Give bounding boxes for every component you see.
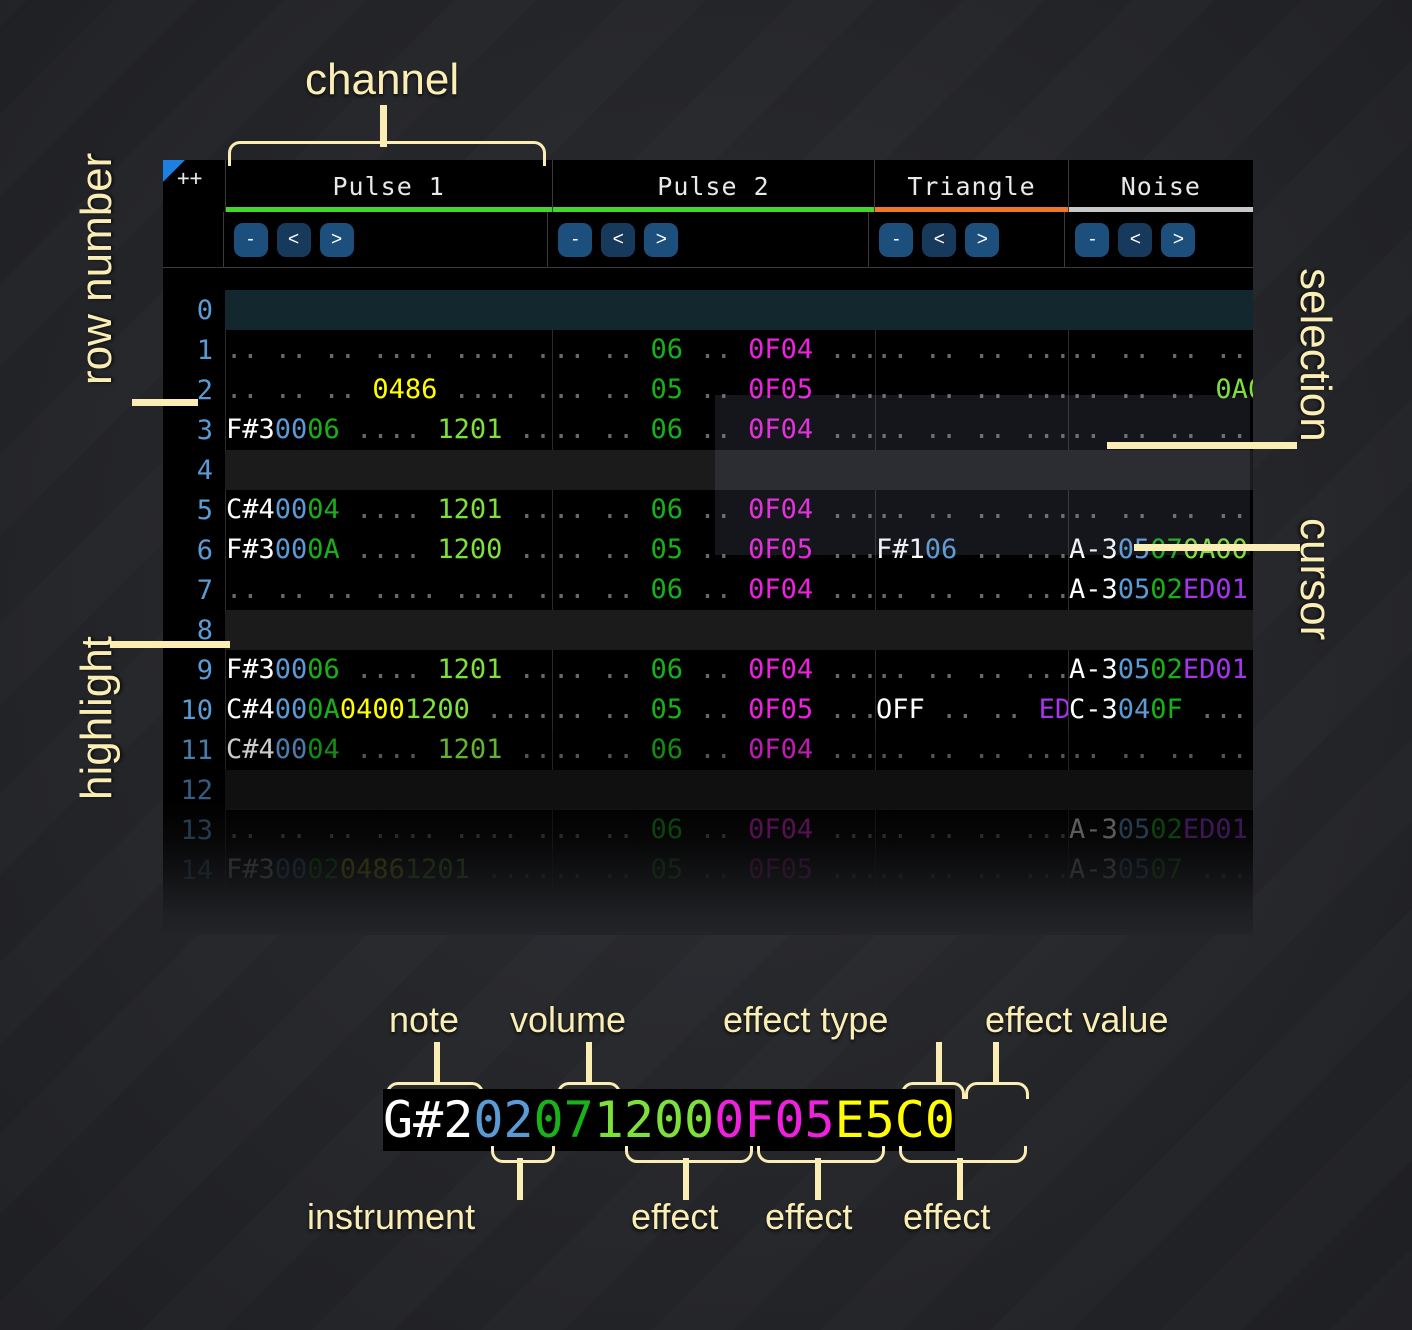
pattern-cell[interactable]: A-30502ED01: [1068, 890, 1253, 930]
legend-token-e1: 1200: [594, 1095, 714, 1145]
pattern-cell[interactable]: .. .. .. ....: [875, 730, 1068, 770]
mute-button[interactable]: -: [558, 223, 592, 257]
legend-token-note: G#2: [383, 1095, 473, 1145]
mute-button[interactable]: -: [234, 223, 268, 257]
channel-controls-pulse-2: - < >: [547, 212, 868, 267]
annotation-cursor-leader: [1134, 544, 1300, 551]
pattern-token: 0400: [340, 694, 405, 725]
pattern-cell[interactable]: F#3000A .... 1200 ....: [225, 530, 552, 570]
pattern-token: .. ..: [553, 854, 651, 885]
pattern-row[interactable]: 7.. .. .. .... .... ...... .. 06 .. 0F04…: [163, 570, 1253, 610]
pattern-row[interactable]: 6F#3000A .... 1200 ...... .. 05 .. 0F05 …: [163, 530, 1253, 570]
row-number: 7: [163, 575, 225, 606]
pattern-token: 0F04: [748, 654, 813, 685]
pattern-token: 04: [307, 494, 340, 525]
pattern-token: ....: [813, 374, 875, 405]
pattern-cell[interactable]: A-30507 ....: [1068, 850, 1253, 890]
pattern-token: A-3: [1069, 574, 1118, 605]
annotation-row-number: row number: [72, 153, 122, 385]
beat-row-highlight: [225, 450, 1253, 490]
pattern-token: 0F05: [748, 854, 813, 885]
channel-name: Pulse 2: [657, 172, 769, 201]
pattern-token: ....: [470, 854, 551, 885]
annotation-channel-bracket: [228, 141, 546, 166]
channel-color-bar: [553, 207, 875, 212]
pattern-token: .. .. ..: [1069, 374, 1215, 405]
row-number: 3: [163, 415, 225, 446]
pattern-token: .. .. .. ....: [876, 414, 1068, 445]
pattern-token: 00: [275, 854, 308, 885]
pattern-row[interactable]: 4C#4000F04001200 ....G#2020712010F05 ...…: [163, 450, 1253, 490]
pattern-token: .. .. .. ....: [876, 814, 1068, 845]
pattern-token: ..: [683, 574, 748, 605]
pattern-token: ....: [502, 494, 552, 525]
pattern-cell[interactable]: F#30006 .... 1201 ....: [225, 410, 552, 450]
pattern-token: .. .. .. ....: [1069, 334, 1253, 365]
pattern-token: 1201: [437, 654, 502, 685]
pattern-token: ....: [813, 814, 875, 845]
pattern-token: ED01: [1183, 654, 1248, 685]
pattern-cell[interactable]: A-30502ED01: [1068, 650, 1253, 690]
pattern-grid[interactable]: 0F#3000F04001200E5C0G#2020712000F05E5C0F…: [163, 290, 1253, 930]
row-number: 4: [163, 455, 225, 486]
pattern-cell[interactable]: .. .. .. ....: [1068, 490, 1253, 530]
prev-button[interactable]: <: [601, 223, 635, 257]
pattern-token: .. ..: [553, 534, 651, 565]
pattern-cell[interactable]: .. .. .. ....: [875, 570, 1068, 610]
pattern-cell[interactable]: .. .. 05 .. 0F05 ....: [552, 370, 875, 410]
pattern-row[interactable]: 3F#30006 .... 1201 ...... .. 06 .. 0F04 …: [163, 410, 1253, 450]
next-button[interactable]: >: [644, 223, 678, 257]
pattern-token: ..: [683, 334, 748, 365]
pattern-token: ....: [813, 494, 875, 525]
pattern-token: F#1: [876, 534, 925, 565]
pattern-token: ....: [340, 654, 438, 685]
pattern-token: 04: [307, 734, 340, 765]
pattern-token: .. ..: [553, 894, 651, 925]
pattern-token: ....: [502, 414, 552, 445]
pattern-token: ....: [813, 694, 875, 725]
pattern-token: ....: [1183, 694, 1253, 725]
pattern-token: .. .. .. ....: [1069, 734, 1253, 765]
legend-code-strip[interactable]: G#2020712000F05E5C0: [383, 1089, 955, 1151]
pattern-token: .. .. .. ....: [876, 374, 1068, 405]
pattern-token: .. .. .. ....: [876, 494, 1068, 525]
pattern-token: 0F04: [748, 494, 813, 525]
pattern-token: ....: [813, 534, 875, 565]
pattern-cell[interactable]: .. .. .. .... .... ....: [225, 330, 552, 370]
channel-controls-noise: - < >: [1064, 212, 1253, 267]
pattern-token: 06: [307, 414, 340, 445]
pattern-cell[interactable]: .. .. .. .... .... ....: [225, 570, 552, 610]
pattern-token: 0F04: [748, 414, 813, 445]
pattern-token: ....: [1183, 854, 1253, 885]
pattern-cell[interactable]: .. .. 06 .. 0F04 ....: [552, 650, 875, 690]
next-button[interactable]: >: [320, 223, 354, 257]
pattern-token: 0F04: [748, 814, 813, 845]
pattern-token: 0486: [372, 374, 437, 405]
pattern-token: 06: [651, 894, 684, 925]
pattern-token: .. .. .. ....: [876, 334, 1068, 365]
pattern-token: ....: [813, 654, 875, 685]
pattern-token: 0C: [307, 894, 340, 925]
pattern-cell[interactable]: .. .. .. ....: [875, 330, 1068, 370]
pattern-cell[interactable]: .. .. .. 0486 .... ....: [225, 370, 552, 410]
pattern-token: ..: [683, 734, 748, 765]
pattern-token: .. .. .. ....: [876, 734, 1068, 765]
beat-row-highlight: [225, 610, 1253, 650]
pattern-token: 06: [651, 814, 684, 845]
pattern-cell[interactable]: .. .. 06 .. 0F04 ....: [552, 730, 875, 770]
pattern-token: .. ..: [553, 574, 651, 605]
pattern-row[interactable]: 10C#4000A04001200 ...... .. 05 .. 0F05 .…: [163, 690, 1253, 730]
pattern-token: 0A: [307, 534, 340, 565]
channel-header-noise[interactable]: Noise: [1068, 160, 1253, 212]
pattern-token: .. ..: [553, 654, 651, 685]
pattern-token: 07: [1150, 854, 1183, 885]
pattern-token: .. .. .. .... .... ....: [226, 814, 552, 845]
channel-header-row: ++ Pulse 1 Pulse 2 Triangle Noise: [163, 160, 1253, 212]
pattern-token: ..: [683, 814, 748, 845]
pattern-cell[interactable]: .. .. .. ....: [875, 850, 1068, 890]
pattern-cell[interactable]: C#4000A04001200 ....: [225, 690, 552, 730]
annotation-cursor: cursor: [1290, 518, 1340, 640]
pattern-token: F#3: [226, 414, 275, 445]
pattern-token: F#3: [226, 534, 275, 565]
legend-token-e2: 0F05: [714, 1095, 834, 1145]
pattern-token: 0A01: [1215, 374, 1253, 405]
pattern-token: ..: [683, 494, 748, 525]
pattern-token: 0F05: [748, 374, 813, 405]
annotation-selection-leader: [1107, 442, 1297, 449]
pattern-token: 0486: [340, 854, 405, 885]
pattern-token: 00: [275, 414, 308, 445]
pattern-token: 06: [925, 534, 958, 565]
pattern-cell[interactable]: .. .. 06 .. 0F04 ....: [552, 890, 875, 930]
pattern-token: ....: [340, 734, 438, 765]
beat-row-highlight: [225, 770, 1253, 810]
pattern-token: 0F04: [748, 574, 813, 605]
pattern-cell[interactable]: F#30006 .... 1201 ....: [225, 650, 552, 690]
pattern-cell[interactable]: .. .. .. ....: [875, 650, 1068, 690]
pattern-token: .. ....: [957, 534, 1068, 565]
pattern-token: 05: [651, 854, 684, 885]
pattern-cell[interactable]: .. .. 05 .. 0F05 ....: [552, 850, 875, 890]
pattern-token: 00: [275, 894, 308, 925]
pattern-token: .. ..: [553, 814, 651, 845]
pattern-token: .. ..: [553, 374, 651, 405]
pattern-token: ....: [813, 894, 875, 925]
pattern-token: 02: [307, 854, 340, 885]
pattern-cell[interactable]: OFF .. .. ED02: [875, 690, 1068, 730]
row-number: 14: [163, 855, 225, 886]
pattern-token: 1200: [405, 894, 470, 925]
pattern-token: ....: [813, 734, 875, 765]
annotation-highlight-leader: [110, 641, 230, 648]
pattern-cell[interactable]: C#40004 .... 1201 ....: [225, 730, 552, 770]
pattern-cell[interactable]: C#40004 .... 1201 ....: [225, 490, 552, 530]
pattern-token: 06: [651, 494, 684, 525]
pattern-token: 0F04: [748, 334, 813, 365]
channel-header-triangle[interactable]: Triangle: [874, 160, 1067, 212]
pattern-cell[interactable]: .. .. 06 .. 0F04 ....: [552, 570, 875, 610]
pattern-token: 00: [275, 734, 308, 765]
pattern-token: .. .. .. ....: [876, 854, 1068, 885]
pattern-token: A-3: [1069, 814, 1118, 845]
pattern-token: 05: [651, 374, 684, 405]
legend-token-vol: 07: [534, 1095, 594, 1145]
pattern-token: .. .. .. .... .... ....: [226, 574, 552, 605]
pattern-token: .. .. .. .... .... ....: [226, 334, 552, 365]
pattern-row[interactable]: 14F#3000204861201 ...... .. 05 .. 0F05 .…: [163, 850, 1253, 890]
grid-top-spacer: [163, 268, 1253, 290]
prev-button[interactable]: <: [1118, 223, 1152, 257]
pattern-cell[interactable]: .. .. .. ....: [875, 810, 1068, 850]
pattern-cell[interactable]: C-4000CED031200 ....: [225, 890, 552, 930]
pattern-row[interactable]: 5C#40004 .... 1201 ...... .. 06 .. 0F04 …: [163, 490, 1253, 530]
pattern-token: 05: [651, 694, 684, 725]
pattern-token: 02: [1150, 654, 1183, 685]
pattern-row[interactable]: 13.. .. .. .... .... ...... .. 06 .. 0F0…: [163, 810, 1253, 850]
header-corner[interactable]: ++: [163, 160, 225, 212]
pattern-token: .. .. .. ....: [1069, 414, 1253, 445]
button-row-gutter: [163, 212, 223, 267]
row-number: 6: [163, 535, 225, 566]
mute-button[interactable]: -: [879, 223, 913, 257]
pattern-cell[interactable]: .. .. .. 0A01: [1068, 370, 1253, 410]
pattern-token: 05: [1118, 654, 1151, 685]
pattern-cell[interactable]: .. .. 06 .. 0F04 ....: [552, 410, 875, 450]
row-number: 12: [163, 775, 225, 806]
pattern-token: ....: [502, 734, 552, 765]
prev-button[interactable]: <: [922, 223, 956, 257]
row-number: 10: [163, 695, 225, 726]
pattern-token: 0F04: [748, 734, 813, 765]
pattern-token: 1200: [437, 534, 502, 565]
row-number: 1: [163, 335, 225, 366]
pattern-token: 0A: [307, 694, 340, 725]
pattern-token: ....: [470, 894, 551, 925]
pattern-token: 06: [651, 734, 684, 765]
pattern-row[interactable]: 12F#30006 .... 1200 ....G#2020712010F05 …: [163, 770, 1253, 810]
channel-name: Pulse 1: [332, 172, 444, 201]
pattern-token: 05: [1118, 574, 1151, 605]
pattern-token: ED01: [1183, 574, 1248, 605]
pattern-token: ..: [683, 414, 748, 445]
row-number: 0: [163, 295, 225, 326]
pattern-token: ED01: [1183, 814, 1248, 845]
pattern-token: F#3: [226, 654, 275, 685]
pattern-token: 0F04: [748, 894, 813, 925]
pattern-token: 06: [651, 334, 684, 365]
annotation-row-number-leader: [132, 399, 198, 406]
annotation-channel: channel: [305, 55, 459, 105]
pattern-token: OFF: [876, 894, 925, 925]
pattern-cell[interactable]: .. .. .. ....: [875, 370, 1068, 410]
pattern-cell[interactable]: .. .. 06 .. 0F04 ....: [552, 810, 875, 850]
pattern-token: 00: [275, 654, 308, 685]
pattern-token: ..: [683, 654, 748, 685]
pattern-token: .. ..: [925, 694, 1039, 725]
pattern-token: ED02: [1039, 694, 1068, 725]
pattern-editor[interactable]: ++ Pulse 1 Pulse 2 Triangle Noise - < > …: [163, 160, 1253, 935]
pattern-token: .. ..: [553, 734, 651, 765]
pattern-token: 05: [1118, 854, 1151, 885]
row-number: 9: [163, 655, 225, 686]
pattern-cell[interactable]: .. .. 06 .. 0F04 ....: [552, 330, 875, 370]
pattern-token: 0F05: [748, 694, 813, 725]
pattern-token: .. ..: [925, 894, 1039, 925]
pattern-token: 05: [1118, 894, 1151, 925]
pattern-token: 05: [651, 534, 684, 565]
pattern-cell[interactable]: .. .. .. ....: [1068, 730, 1253, 770]
pattern-token: 0F05: [748, 534, 813, 565]
pattern-token: ..: [683, 694, 748, 725]
pattern-token: 06: [307, 654, 340, 685]
pattern-token: 04: [1118, 694, 1151, 725]
pattern-token: F#3: [226, 854, 275, 885]
pattern-token: ..: [683, 374, 748, 405]
pattern-token: 02: [1150, 814, 1183, 845]
pattern-token: .. ..: [553, 334, 651, 365]
pattern-token: ..: [683, 854, 748, 885]
pattern-cell[interactable]: F#3000204861201 ....: [225, 850, 552, 890]
pattern-token: ....: [813, 574, 875, 605]
pattern-token: A-3: [1069, 894, 1118, 925]
row-number: 15: [163, 895, 225, 926]
pattern-token: 06: [651, 654, 684, 685]
channel-color-bar: [226, 207, 552, 212]
pattern-token: ....: [340, 414, 438, 445]
pattern-token: 1201: [437, 414, 502, 445]
pattern-token: 1201: [437, 494, 502, 525]
pattern-row[interactable]: 9F#30006 .... 1201 ...... .. 06 .. 0F04 …: [163, 650, 1253, 690]
pattern-token: 0F: [1150, 694, 1183, 725]
pattern-token: ....: [502, 534, 552, 565]
pattern-token: ....: [813, 334, 875, 365]
pattern-token: 06: [651, 414, 684, 445]
pattern-token: ED01: [1183, 894, 1248, 925]
pattern-cell[interactable]: C-3040F ....: [1068, 690, 1253, 730]
pattern-token: C-4: [226, 894, 275, 925]
pattern-cell[interactable]: .. .. 05 .. 0F05 ....: [552, 690, 875, 730]
pattern-token: C#4: [226, 734, 275, 765]
pattern-token: ....: [470, 694, 551, 725]
pattern-token: ....: [813, 414, 875, 445]
annotation-highlight: highlight: [72, 636, 122, 800]
row-number: 11: [163, 735, 225, 766]
pattern-token: 00: [275, 534, 308, 565]
channel-color-bar: [1069, 207, 1253, 212]
pattern-row[interactable]: 11C#40004 .... 1201 ...... .. 06 .. 0F04…: [163, 730, 1253, 770]
pattern-token: .. .. ..: [226, 374, 372, 405]
pattern-token: 02: [1150, 574, 1183, 605]
pattern-cell[interactable]: .. .. 05 .. 0F05 ....: [552, 530, 875, 570]
legend-token-inst: 02: [473, 1095, 533, 1145]
pattern-token: ....: [340, 534, 438, 565]
pattern-token: 02: [1150, 894, 1183, 925]
channel-header-pulse-1[interactable]: Pulse 1: [225, 160, 552, 212]
channel-name: Noise: [1121, 172, 1201, 201]
pattern-cell[interactable]: A-30502ED01: [1068, 810, 1253, 850]
pattern-token: 00: [275, 494, 308, 525]
pattern-token: .. ..: [553, 494, 651, 525]
pattern-token: 1201: [437, 734, 502, 765]
next-button[interactable]: >: [965, 223, 999, 257]
pattern-token: ....: [502, 654, 552, 685]
pattern-cell[interactable]: F#106 .. ....: [875, 530, 1068, 570]
row-number: 13: [163, 815, 225, 846]
pattern-token: 1200: [405, 694, 470, 725]
pattern-token: ED03: [340, 894, 405, 925]
row-number: 5: [163, 495, 225, 526]
pattern-token: C#4: [226, 494, 275, 525]
pattern-cell[interactable]: .. .. .. ....: [875, 490, 1068, 530]
pattern-token: ED02: [1039, 894, 1068, 925]
pattern-token: A-3: [1069, 654, 1118, 685]
pattern-token: OFF: [876, 694, 925, 725]
channel-controls-pulse-1: - < >: [223, 212, 548, 267]
pattern-token: ....: [340, 494, 438, 525]
channel-controls-triangle: - < >: [868, 212, 1064, 267]
pattern-token: .. .. .. ....: [876, 654, 1068, 685]
pattern-token: A-3: [1069, 854, 1118, 885]
pattern-cell[interactable]: OFF .. .. ED02: [875, 890, 1068, 930]
pattern-token: 1201: [405, 854, 470, 885]
next-button[interactable]: >: [1161, 223, 1195, 257]
pattern-token: C#4: [226, 694, 275, 725]
pattern-cell[interactable]: .. .. 06 .. 0F04 ....: [552, 490, 875, 530]
annotation-selection: selection: [1290, 268, 1340, 442]
pattern-token: .. .. .. ....: [876, 574, 1068, 605]
play-row-highlight: [225, 290, 1253, 330]
header-corner-label: ++: [177, 166, 202, 190]
pattern-row[interactable]: 0F#3000F04001200E5C0G#2020712000F05E5C0F…: [163, 290, 1253, 330]
prev-button[interactable]: <: [277, 223, 311, 257]
pattern-token: 00: [275, 694, 308, 725]
pattern-token: .. .. .. ....: [1069, 494, 1253, 525]
pattern-token: .... ....: [437, 374, 552, 405]
pattern-cell[interactable]: A-30502ED01: [1068, 570, 1253, 610]
pattern-token: .. ..: [553, 414, 651, 445]
pattern-row[interactable]: 8.. .. .. 0486 .... ....G#2020712020F05 …: [163, 610, 1253, 650]
mute-button[interactable]: -: [1075, 223, 1109, 257]
channel-name: Triangle: [907, 172, 1035, 201]
legend-token-e3: E5C0: [835, 1095, 955, 1145]
pattern-token: 06: [651, 574, 684, 605]
pattern-token: .. ..: [553, 694, 651, 725]
pattern-row[interactable]: 1.. .. .. .... .... ...... .. 06 .. 0F04…: [163, 330, 1253, 370]
channel-color-bar: [875, 207, 1067, 212]
pattern-token: A-3: [1069, 534, 1118, 565]
pattern-row[interactable]: 2.. .. .. 0486 .... ...... .. 05 .. 0F05…: [163, 370, 1253, 410]
pattern-token: C-3: [1069, 694, 1118, 725]
pattern-token: ....: [813, 854, 875, 885]
pattern-cell[interactable]: .. .. .. .... .... ....: [225, 810, 552, 850]
pattern-token: 05: [1118, 814, 1151, 845]
channel-button-row: - < > - < > - < > - < >: [163, 212, 1253, 267]
pattern-cell[interactable]: .. .. .. ....: [875, 410, 1068, 450]
channel-header-pulse-2[interactable]: Pulse 2: [552, 160, 875, 212]
pattern-token: ..: [683, 534, 748, 565]
pattern-token: ..: [683, 894, 748, 925]
pattern-cell[interactable]: .. .. .. ....: [1068, 330, 1253, 370]
